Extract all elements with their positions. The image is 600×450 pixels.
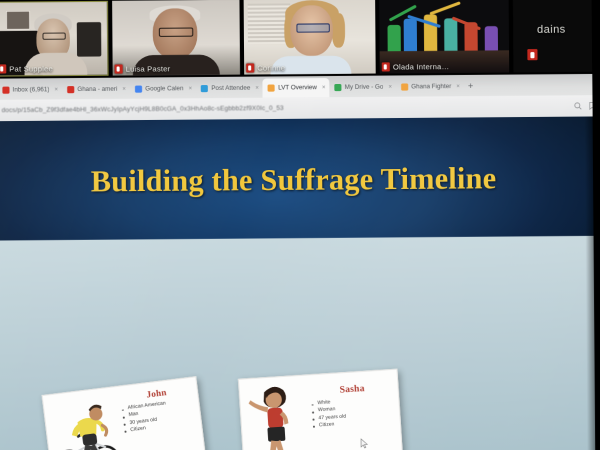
close-icon[interactable]: × — [388, 84, 392, 90]
close-icon[interactable]: × — [456, 84, 460, 90]
browser-tab[interactable]: Ghana Fighter × — [396, 77, 464, 97]
url-input[interactable]: docs/p/15aCb_Z9f3dfae4bHl_36xWcJyIpAyYcj… — [2, 102, 569, 114]
slide-title: Building the Suffrage Timeline — [30, 161, 556, 200]
tab-label: Inbox (6,961) — [13, 86, 50, 93]
tab-label: Post Attendee — [211, 85, 250, 92]
close-icon[interactable]: × — [322, 85, 326, 91]
close-icon[interactable]: × — [188, 86, 192, 92]
participant-name: Pat Supplee — [9, 64, 53, 73]
participant-name: Corinne — [257, 63, 285, 72]
presentation-slide[interactable]: Building the Suffrage Timeline — [0, 116, 600, 450]
gmail-icon — [67, 86, 74, 93]
browser-tab[interactable]: Inbox (6,961) × — [0, 80, 62, 100]
close-icon[interactable]: × — [122, 86, 126, 92]
gmail-icon — [2, 87, 9, 94]
site-icon — [201, 85, 208, 92]
card-text-sasha: Sasha White Woman 47 years old Citizen — [306, 370, 403, 450]
browser-tab-active[interactable]: LVT Overview × — [263, 78, 330, 98]
participant-name-bar: Corinne — [244, 62, 289, 73]
tab-label: Google Calen — [145, 85, 183, 92]
close-icon[interactable]: × — [54, 87, 58, 93]
search-icon[interactable] — [573, 101, 582, 110]
participant-tile[interactable]: Olada Interna… — [379, 0, 509, 74]
trait-list: White Woman 47 years old Citizen — [307, 395, 400, 430]
participant-tile[interactable]: Corinne — [244, 0, 376, 75]
calendar-icon — [135, 86, 142, 93]
close-icon[interactable]: × — [255, 85, 259, 91]
participant-name: dains — [537, 24, 566, 36]
character-card-sasha[interactable]: Sasha White Woman 47 years old Citizen — [238, 369, 404, 450]
zoom-icon — [115, 64, 123, 73]
cyclist-illustration — [43, 387, 126, 450]
participant-name-bar: Olada Interna… — [380, 61, 454, 73]
participant-tile[interactable]: dains — [513, 0, 600, 73]
drive-icon — [335, 84, 342, 91]
tab-label: LVT Overview — [278, 84, 317, 91]
video-participant-strip: Pat Supplee Luisa Paster Corinne — [0, 0, 600, 79]
browser-tab[interactable]: My Drive - Go × — [329, 78, 396, 98]
participant-tile[interactable]: Pat Supplee — [0, 1, 109, 77]
browser-chrome: Inbox (6,961) × Ghana - ameri × Google C… — [0, 74, 600, 121]
mouse-cursor — [360, 438, 368, 449]
slides-icon — [401, 83, 408, 90]
participant-name-bar: Luisa Paster — [113, 63, 175, 75]
new-tab-button[interactable]: + — [468, 80, 473, 90]
screen-content: Pat Supplee Luisa Paster Corinne — [0, 0, 600, 450]
tab-label: Ghana - ameri — [77, 86, 117, 93]
zoom-icon — [246, 63, 254, 72]
participant-name: Luisa Paster — [126, 64, 171, 73]
photographed-monitor: Pat Supplee Luisa Paster Corinne — [0, 0, 600, 450]
zoom-icon — [382, 62, 390, 71]
slides-icon — [268, 85, 275, 92]
participant-name: Olada Interna… — [393, 62, 449, 72]
browser-tab[interactable]: Post Attendee × — [196, 79, 263, 99]
participant-name-bar: Pat Supplee — [0, 63, 57, 75]
card-text-john: John African American Man 30 years old C… — [115, 377, 206, 450]
browser-tab[interactable]: Ghana - ameri × — [62, 80, 130, 100]
zoom-icon — [0, 64, 6, 73]
browser-tab[interactable]: Google Calen × — [130, 79, 196, 99]
woman-dancer-illustration — [239, 375, 312, 450]
trait-list: African American Man 30 years old Citize… — [117, 396, 201, 435]
tab-label: Ghana Fighter — [411, 83, 451, 90]
zoom-icon — [527, 49, 537, 60]
participant-tile[interactable]: Luisa Paster — [112, 0, 240, 76]
tab-label: My Drive - Go — [345, 84, 384, 91]
